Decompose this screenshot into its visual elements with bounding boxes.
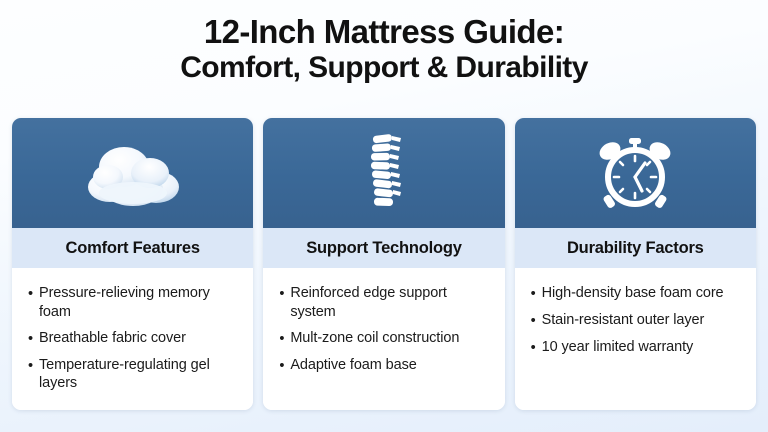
page-title-line-2: Comfort, Support & Durability — [0, 51, 768, 85]
list-item-text: Mult-zone coil construction — [290, 329, 490, 348]
list-item-text: High-density base foam core — [542, 284, 742, 303]
card-title: Durability Factors — [567, 239, 704, 258]
list-item-text: Reinforced edge support system — [290, 284, 490, 322]
list-item: • High-density base foam core — [531, 284, 742, 304]
list-item: • Breathable fabric cover — [28, 329, 239, 349]
bullet-dot-icon: • — [531, 285, 542, 304]
card-durability-factors[interactable]: Durability Factors • High-density base f… — [515, 118, 756, 410]
list-item-text: Adaptive foam base — [290, 356, 490, 375]
bullet-dot-icon: • — [28, 330, 39, 349]
card-header — [515, 118, 756, 228]
card-body: • Pressure-relieving memory foam • Breat… — [12, 268, 253, 410]
card-body: • Reinforced edge support system • Mult-… — [263, 268, 504, 410]
alarm-clock-icon — [587, 130, 683, 216]
bullet-dot-icon: • — [28, 285, 39, 304]
page-title-line-1: 12-Inch Mattress Guide: — [0, 14, 768, 51]
bullet-dot-icon: • — [279, 357, 290, 376]
card-title-band: Comfort Features — [12, 228, 253, 268]
bullet-dot-icon: • — [531, 312, 542, 331]
list-item: • 10 year limited warranty — [531, 338, 742, 358]
spine-icon — [336, 130, 432, 216]
card-title: Support Technology — [306, 239, 462, 258]
list-item-text: Pressure-relieving memory foam — [39, 284, 239, 322]
list-item-text: Stain-resistant outer layer — [542, 311, 742, 330]
list-item: • Adaptive foam base — [279, 356, 490, 376]
list-item: • Pressure-relieving memory foam — [28, 284, 239, 322]
bullet-dot-icon: • — [531, 339, 542, 358]
page-title: 12-Inch Mattress Guide: Comfort, Support… — [0, 0, 768, 85]
bullet-dot-icon: • — [279, 330, 290, 349]
list-item: • Mult-zone coil construction — [279, 329, 490, 349]
card-header — [263, 118, 504, 228]
list-item: • Temperature-regulating gel layers — [28, 356, 239, 394]
list-item-text: Breathable fabric cover — [39, 329, 239, 348]
card-support-technology[interactable]: Support Technology • Reinforced edge sup… — [263, 118, 504, 410]
list-item-text: 10 year limited warranty — [542, 338, 742, 357]
card-header — [12, 118, 253, 228]
bullet-list: • Pressure-relieving memory foam • Breat… — [28, 284, 239, 393]
bullet-list: • High-density base foam core • Stain-re… — [531, 284, 742, 358]
feature-cards-row: Comfort Features • Pressure-relieving me… — [12, 118, 756, 410]
bullet-list: • Reinforced edge support system • Mult-… — [279, 284, 490, 375]
bullet-dot-icon: • — [279, 285, 290, 304]
list-item-text: Temperature-regulating gel layers — [39, 356, 239, 394]
list-item: • Stain-resistant outer layer — [531, 311, 742, 331]
bullet-dot-icon: • — [28, 357, 39, 376]
card-body: • High-density base foam core • Stain-re… — [515, 268, 756, 410]
list-item: • Reinforced edge support system — [279, 284, 490, 322]
card-comfort-features[interactable]: Comfort Features • Pressure-relieving me… — [12, 118, 253, 410]
card-title: Comfort Features — [66, 239, 200, 258]
card-title-band: Durability Factors — [515, 228, 756, 268]
card-title-band: Support Technology — [263, 228, 504, 268]
cloud-icon — [85, 130, 181, 216]
